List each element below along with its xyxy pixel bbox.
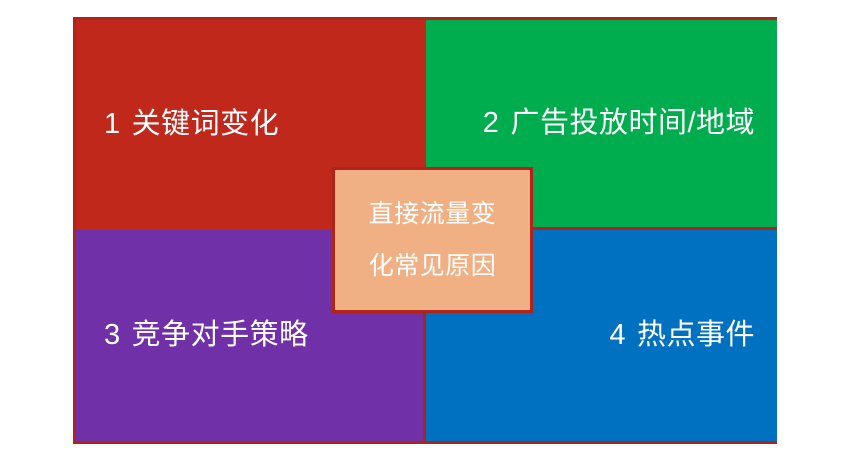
quadrant-2-number: 2 xyxy=(483,107,500,140)
quadrant-4-text: 4热点事件 xyxy=(609,319,755,352)
quadrant-4-number: 4 xyxy=(609,319,626,352)
quadrant-1-label: 关键词变化 xyxy=(132,108,280,140)
center-title-line-1: 直接流量变 xyxy=(369,201,497,227)
quadrant-3-number: 3 xyxy=(104,319,121,352)
quadrant-1-text: 1关键词变化 xyxy=(104,108,279,141)
center-title-box[interactable]: 直接流量变 化常见原因 xyxy=(332,167,533,313)
center-title-line-2: 化常见原因 xyxy=(369,253,497,279)
quadrant-1-number: 1 xyxy=(104,108,121,141)
quadrant-3-label: 竞争对手策略 xyxy=(132,319,309,351)
quadrant-4-label: 热点事件 xyxy=(637,319,755,351)
quadrant-2-label: 广告投放时间/地域 xyxy=(510,107,755,139)
quadrant-3-text: 3竞争对手策略 xyxy=(104,319,309,352)
slide-canvas: 1关键词变化 2广告投放时间/地域 3竞争对手策略 4热点事件 直接流量变 化常… xyxy=(0,0,866,468)
quadrant-2-text: 2广告投放时间/地域 xyxy=(483,107,755,140)
